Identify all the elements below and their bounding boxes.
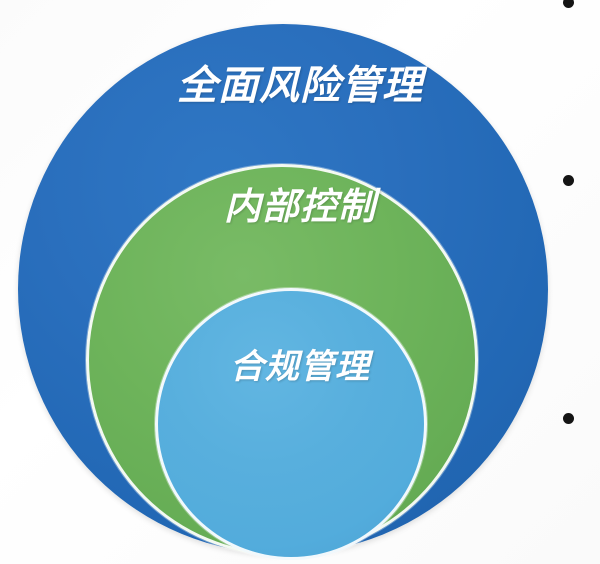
bullet-marker-2: [563, 175, 574, 186]
circle-inner-label: 合规管理: [0, 348, 600, 386]
circle-middle-label: 内部控制: [0, 186, 600, 227]
nested-circles-diagram: 全面风险管理 内部控制 合规管理: [0, 0, 600, 564]
circle-inner-compliance-management: [155, 288, 427, 560]
circle-outer-label: 全面风险管理: [0, 64, 600, 108]
bullet-marker-3: [563, 413, 574, 424]
bullet-marker-1: [563, 0, 574, 8]
